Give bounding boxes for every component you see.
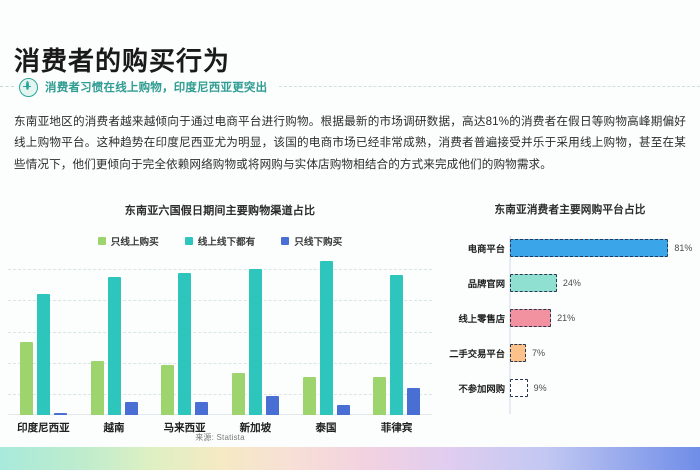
hbar-0[interactable] xyxy=(510,239,668,257)
bar-group xyxy=(303,248,350,415)
bar-both[interactable] xyxy=(249,269,262,415)
hbar-row: 线上零售店21% xyxy=(440,306,700,330)
bar-offline-only[interactable] xyxy=(195,402,208,415)
globe-icon xyxy=(19,78,38,97)
hbar-row: 品牌官网24% xyxy=(440,271,700,295)
hbar-2[interactable] xyxy=(510,309,551,327)
bar-offline-only[interactable] xyxy=(337,405,350,415)
hbar-label: 线上零售店 xyxy=(415,306,505,330)
legend-item-offline-only[interactable]: 只线下购买 xyxy=(281,234,342,248)
hbar-label: 品牌官网 xyxy=(415,271,505,295)
hbar-1[interactable] xyxy=(510,274,557,292)
legend-item-both[interactable]: 线上线下都有 xyxy=(185,234,256,248)
chart-title-right: 东南亚消费者主要网购平台占比 xyxy=(440,202,700,217)
hbar-label: 不参加网购 xyxy=(415,376,505,400)
bar-both[interactable] xyxy=(37,294,50,415)
bar-both[interactable] xyxy=(320,261,333,415)
hbar-row: 二手交易平台7% xyxy=(440,341,700,365)
chart-plot-area-left xyxy=(8,248,432,415)
bar-both[interactable] xyxy=(390,275,403,415)
hbar-label: 二手交易平台 xyxy=(415,341,505,365)
gridline xyxy=(8,269,432,270)
bar-group xyxy=(232,248,279,415)
bar-offline-only[interactable] xyxy=(266,396,279,415)
legend-item-online-only[interactable]: 只线上购买 xyxy=(98,234,159,248)
gridline xyxy=(8,363,432,364)
infographic-page: 消费者的购买行为 消费者习惯在线上购物，印度尼西亚更突出 东南亚地区的消费者越来… xyxy=(0,0,700,470)
hbar-value-label: 7% xyxy=(532,341,545,365)
body-paragraph: 东南亚地区的消费者越来越倾向于通过电商平台进行购物。根据最新的市场调研数据，高达… xyxy=(14,111,686,176)
hbar-row: 电商平台81% xyxy=(440,236,700,260)
legend-swatch-both xyxy=(185,237,193,245)
subtitle-row: 消费者习惯在线上购物，印度尼西亚更突出 xyxy=(0,76,700,98)
dashed-rule-left xyxy=(0,86,14,88)
hbar-value-label: 24% xyxy=(563,271,581,295)
subtitle-text: 消费者习惯在线上购物，印度尼西亚更突出 xyxy=(45,79,267,95)
gridline xyxy=(8,300,432,301)
bar-online-only[interactable] xyxy=(161,365,174,415)
gridline xyxy=(8,332,432,333)
bar-offline-only[interactable] xyxy=(54,413,67,415)
legend-label-both: 线上线下都有 xyxy=(198,234,256,248)
dashed-rule-right xyxy=(279,86,700,88)
x-axis-line xyxy=(8,414,432,415)
bar-group xyxy=(373,248,420,415)
bar-offline-only[interactable] xyxy=(125,402,138,415)
bar-group xyxy=(161,248,208,415)
hbar-3[interactable] xyxy=(510,344,526,362)
hbar-row: 不参加网购9% xyxy=(440,376,700,400)
chart-plot-area-right: 电商平台81%品牌官网24%线上零售店21%二手交易平台7%不参加网购9% xyxy=(440,230,700,420)
bar-online-only[interactable] xyxy=(303,377,316,415)
footer-gradient-bar xyxy=(0,447,700,470)
bar-online-only[interactable] xyxy=(91,361,104,415)
hbar-value-label: 21% xyxy=(557,306,575,330)
bar-online-only[interactable] xyxy=(373,377,386,415)
charts-band: 东南亚六国假日期间主要购物渠道占比 只线上购买 线上线下都有 只线下购买 xyxy=(0,196,700,446)
chart-holiday-shopping-channels: 东南亚六国假日期间主要购物渠道占比 只线上购买 线上线下都有 只线下购买 xyxy=(0,196,440,446)
gridline xyxy=(8,394,432,395)
bar-group xyxy=(20,248,67,415)
bar-group xyxy=(91,248,138,415)
hbar-value-label: 81% xyxy=(674,236,692,260)
legend-label-online-only: 只线上购买 xyxy=(111,234,159,248)
page-title: 消费者的购买行为 xyxy=(14,41,230,78)
legend-swatch-offline-only xyxy=(281,237,289,245)
chart-online-shopping-platforms: 东南亚消费者主要网购平台占比 电商平台81%品牌官网24%线上零售店21%二手交… xyxy=(440,196,700,446)
bar-both[interactable] xyxy=(178,273,191,415)
legend-label-offline-only: 只线下购买 xyxy=(294,234,342,248)
bar-both[interactable] xyxy=(108,277,121,415)
bar-online-only[interactable] xyxy=(20,342,33,415)
hbar-4[interactable] xyxy=(510,379,528,397)
hbar-label: 电商平台 xyxy=(415,236,505,260)
bar-online-only[interactable] xyxy=(232,373,245,415)
legend-swatch-online-only xyxy=(98,237,106,245)
chart-source-note: 来源: Statista xyxy=(0,432,440,443)
chart-legend-left: 只线上购买 线上线下都有 只线下购买 xyxy=(0,234,440,248)
hbar-value-label: 9% xyxy=(534,376,547,400)
chart-title-left: 东南亚六国假日期间主要购物渠道占比 xyxy=(0,202,440,218)
